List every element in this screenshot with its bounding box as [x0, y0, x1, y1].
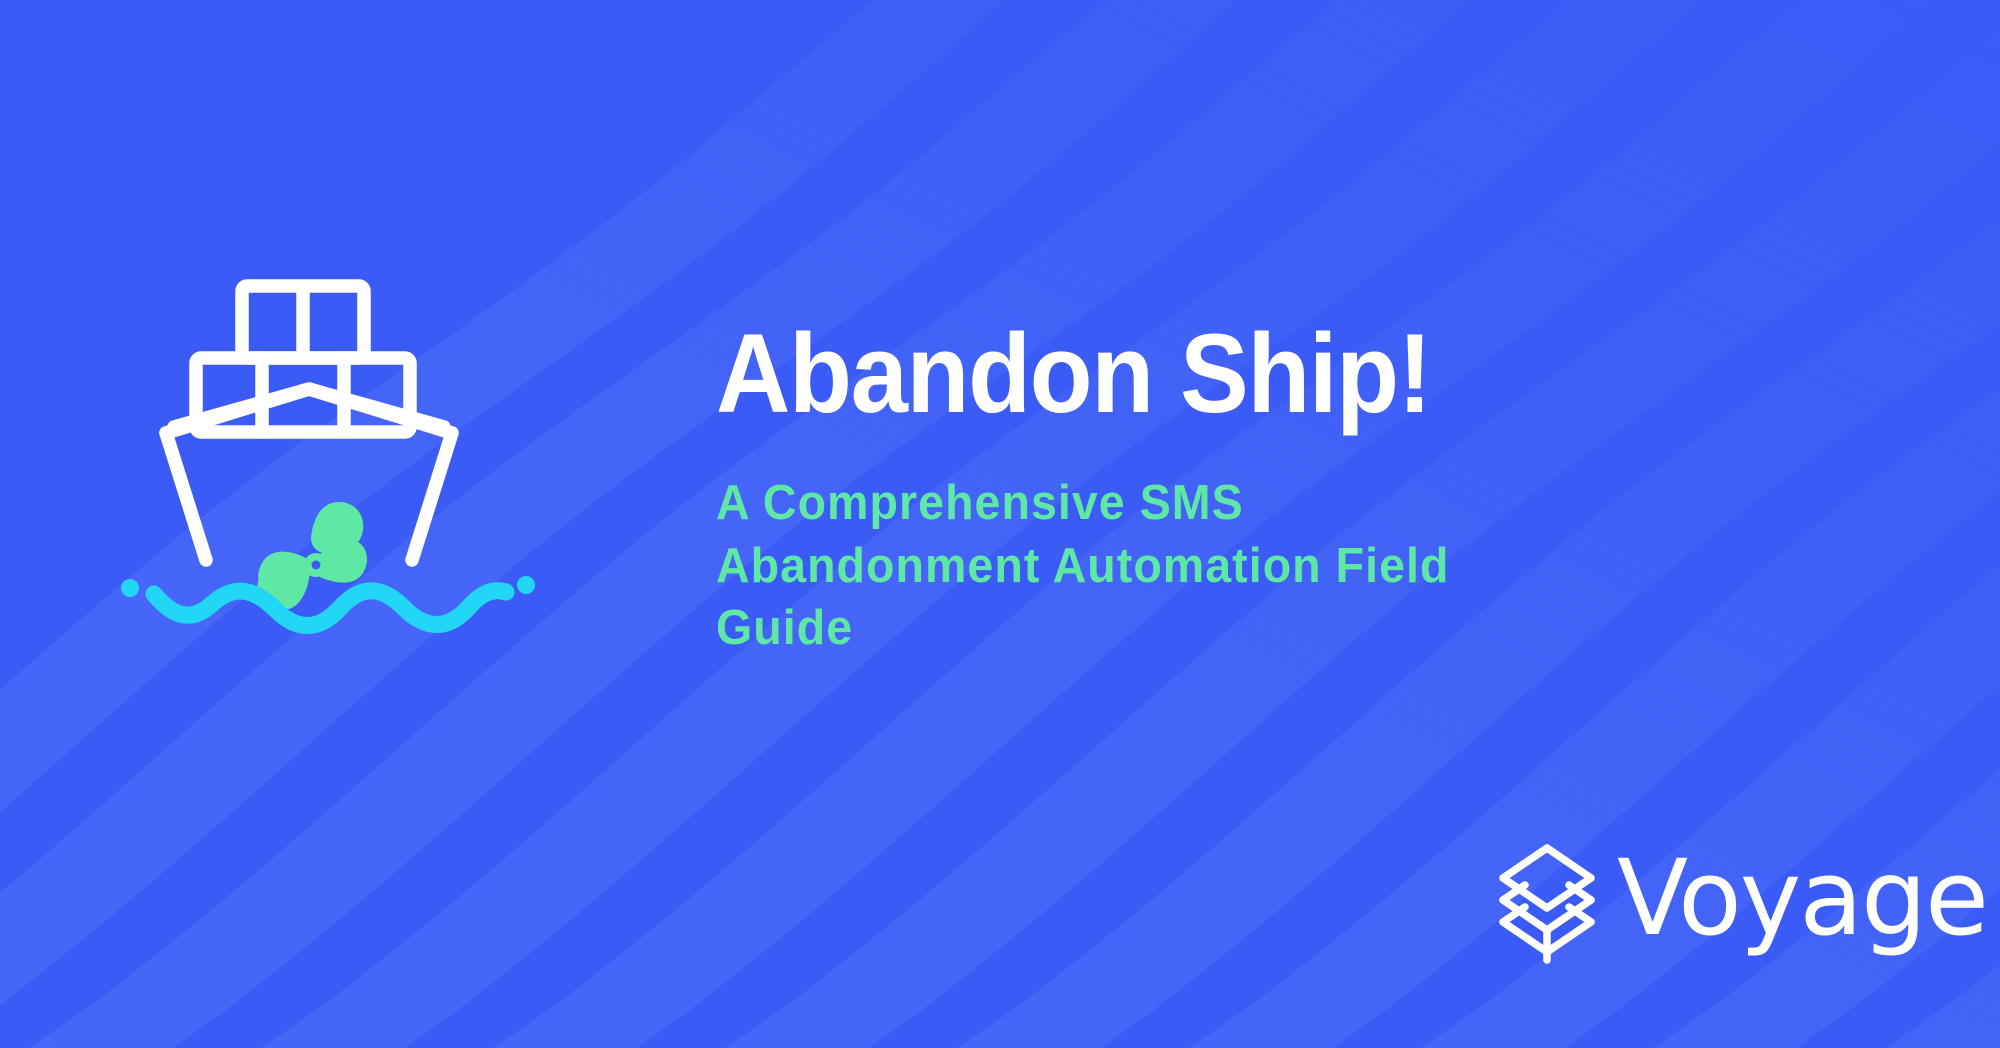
banner-subtitle: A Comprehensive SMS Abandonment Automati…: [716, 430, 1571, 660]
wave-line: [154, 591, 506, 626]
promo-banner: Abandon Ship! A Comprehensive SMS Abando…: [0, 0, 2000, 1048]
propeller-hub-center: [312, 561, 321, 570]
ship-hull-and-containers: [166, 286, 452, 560]
water-wave: [121, 576, 535, 626]
hull-left-side: [166, 433, 206, 560]
cargo-ship-icon: [130, 270, 530, 660]
banner-text-block: Abandon Ship! A Comprehensive SMS Abando…: [716, 318, 1876, 660]
hull-right-side: [412, 433, 452, 560]
layer-top: [1503, 848, 1591, 908]
stacked-layers-icon: [1495, 838, 1599, 966]
wave-dot-left: [121, 579, 139, 597]
wave-dot-right: [517, 576, 535, 594]
page-title: Abandon Ship!: [716, 318, 1783, 430]
logo-wordmark: Voyage: [1617, 846, 1987, 950]
voyage-logo[interactable]: Voyage: [1495, 838, 1987, 966]
